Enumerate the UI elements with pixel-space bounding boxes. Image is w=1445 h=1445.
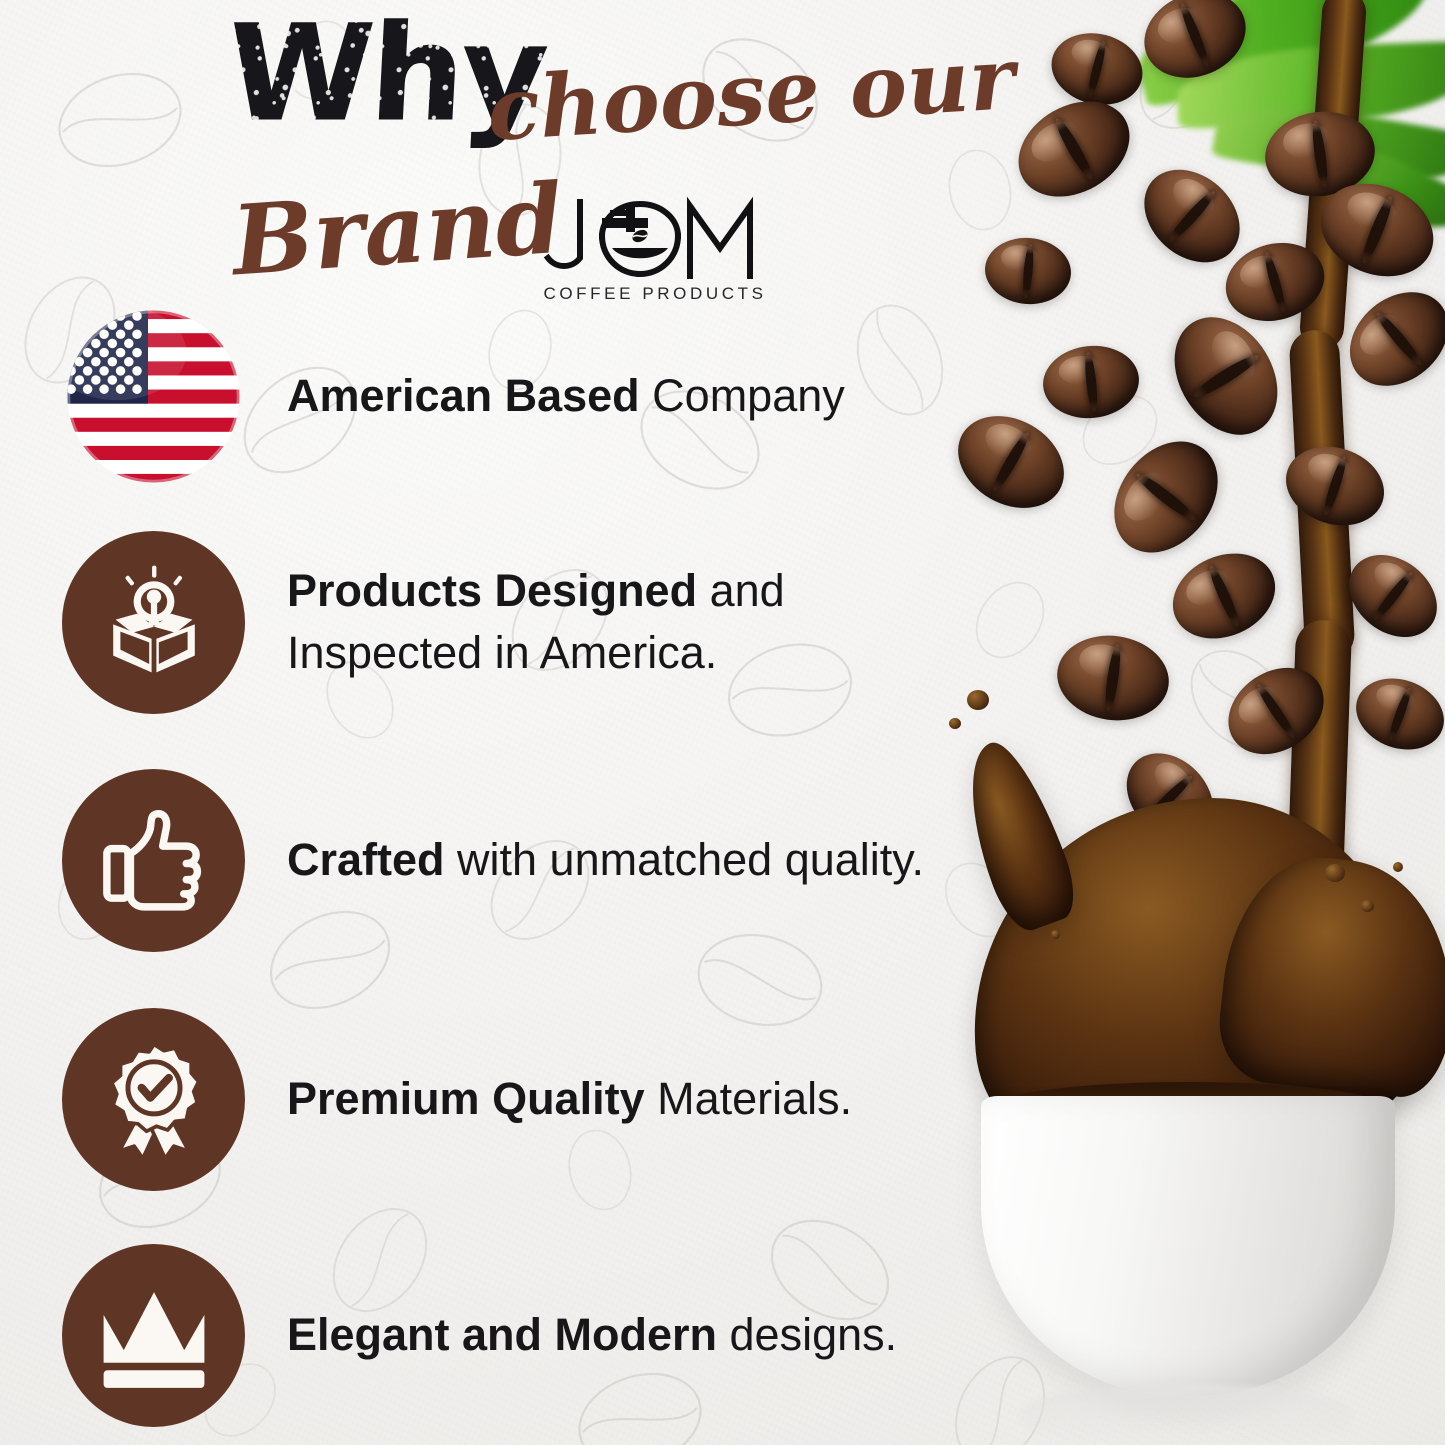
coffee-bean-icon — [1052, 629, 1175, 728]
feature-text-rest: with unmatched quality. — [445, 834, 924, 885]
coffee-bean-icon — [1126, 151, 1258, 281]
jom-logo-mark-icon — [540, 196, 770, 288]
feature-text-bold: Crafted — [287, 834, 445, 885]
coffee-bean-icon — [1044, 24, 1150, 114]
cup-reflection — [1021, 1384, 1351, 1442]
feature-text-bold: American Based — [287, 370, 640, 421]
coffee-bean-icon — [1276, 434, 1395, 537]
feature-text-rest: designs. — [717, 1309, 897, 1360]
feature-text: Premium Quality Materials. — [287, 1068, 852, 1130]
green-leaf-icon — [1211, 91, 1445, 199]
feature-text-rest: Company — [640, 370, 845, 421]
feature-item: Premium Quality Materials. — [0, 979, 1010, 1219]
coffee-droplet — [1325, 864, 1345, 882]
cup-coffee-surface — [985, 1082, 1391, 1138]
coffee-droplet — [1361, 900, 1374, 912]
coffee-bean-icon — [1131, 0, 1258, 92]
coffee-droplet — [1393, 862, 1403, 872]
feature-item: Elegant and Modern designs. — [0, 1219, 1010, 1445]
coffee-bean-icon — [1159, 538, 1288, 654]
feature-text-rest: Materials. — [645, 1073, 853, 1124]
coffee-cup — [981, 1096, 1395, 1396]
green-leaf-icon — [1176, 41, 1445, 129]
feature-item: Products Designed and Inspected in Ameri… — [0, 502, 1010, 742]
infographic-canvas: Why choose our Brand — [0, 0, 1445, 1445]
coffee-splash — [955, 781, 1422, 1148]
coffee-bean-icon — [1346, 667, 1445, 762]
feature-text-bold: Elegant and Modern — [287, 1309, 717, 1360]
coffee-pour-stream — [1288, 329, 1355, 661]
coffee-bean-icon — [1260, 105, 1381, 203]
feature-text: Products Designed and Inspected in Ameri… — [287, 560, 907, 684]
coffee-bean-icon — [1154, 298, 1299, 454]
green-leaf-icon — [1293, 122, 1445, 249]
box-lightbulb-design-icon — [62, 531, 245, 714]
headline-block: Why choose our Brand — [0, 0, 1000, 320]
usa-flag-icon — [62, 305, 245, 488]
headline-brand: Brand — [229, 171, 566, 290]
coffee-bean-icon — [1331, 273, 1445, 405]
coffee-bean-icon — [1216, 232, 1333, 333]
crown-icon — [62, 1244, 245, 1427]
coffee-bean-icon — [1001, 82, 1146, 215]
coffee-droplet — [1051, 930, 1060, 939]
thumbs-up-icon — [62, 769, 245, 952]
coffee-bean-icon — [1109, 736, 1230, 858]
coffee-bean-icon — [1093, 421, 1239, 573]
feature-list: American Based Company — [0, 290, 1010, 1445]
green-leaf-icon — [1126, 0, 1439, 109]
coffee-bean-icon — [1212, 650, 1340, 772]
coffee-bean-icon — [1039, 341, 1142, 423]
coffee-splash-arm — [1214, 849, 1445, 1102]
feature-item: American Based Company — [0, 290, 1010, 502]
coffee-bean-icon — [1333, 538, 1445, 654]
coffee-pour-stream — [1298, 0, 1367, 351]
coffee-pour-stream — [1286, 619, 1352, 921]
feature-item: Crafted with unmatched quality. — [0, 742, 1010, 979]
feature-text: American Based Company — [287, 365, 845, 427]
coffee-bean-icon — [1307, 167, 1445, 292]
award-badge-check-icon — [62, 1008, 245, 1191]
headline-choose-our: choose our — [485, 36, 1017, 154]
feature-text-bold: Products Designed — [287, 565, 697, 616]
feature-text-bold: Premium Quality — [287, 1073, 645, 1124]
feature-text: Crafted with unmatched quality. — [287, 829, 924, 891]
feature-text: Elegant and Modern designs. — [287, 1304, 897, 1366]
